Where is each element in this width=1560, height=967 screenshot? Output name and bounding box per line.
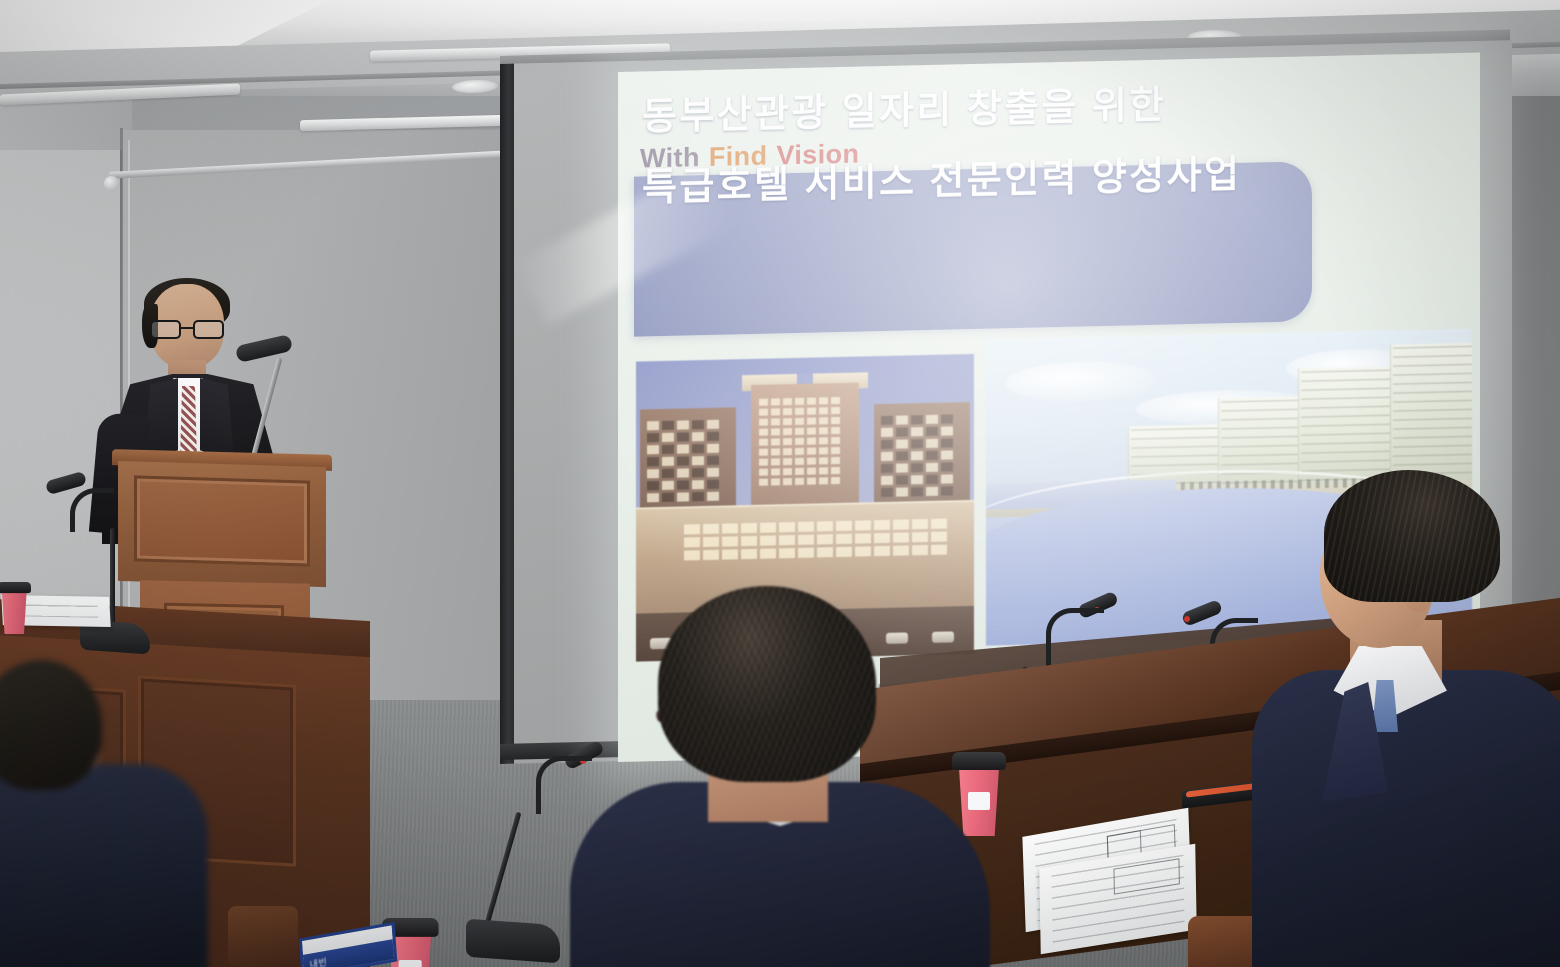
coffee-cup-lid [952,752,1006,770]
presentation-room-scene: WithFindVision 동부산관광 일자리 창출을 위한 특급호텔 서비스… [0,0,1560,967]
attendee-center [612,586,942,967]
screen-left-edge [500,64,514,764]
attendee-center-hair [658,586,876,782]
presenter-glasses-icon [148,320,226,339]
microphone-stem [110,528,115,624]
attendee-left [0,660,210,967]
coffee-cup-label [399,960,422,967]
curtain-rail-knob [104,176,119,191]
microphone-indicator-led [1184,616,1190,622]
attendee-right-body [1252,670,1560,967]
coffee-cup-label [968,792,990,810]
attendee-left-body [0,764,208,967]
podium-face-panel [134,475,310,566]
resort-building [1390,342,1472,486]
photo-central-tower [751,383,859,515]
attendee-right-hair [1324,470,1500,602]
name-placard-text: 내빈 [309,955,327,967]
coffee-cup-lid [0,582,31,593]
microphone-base [466,919,560,964]
attendee-right [1276,470,1560,967]
coffee-cup-body [0,589,29,634]
chair [228,906,298,967]
slide-title-line-1: 동부산관광 일자리 창출을 위한 [642,74,1167,141]
attendee-left-head [0,660,102,790]
microphone-gooseneck [536,756,592,814]
